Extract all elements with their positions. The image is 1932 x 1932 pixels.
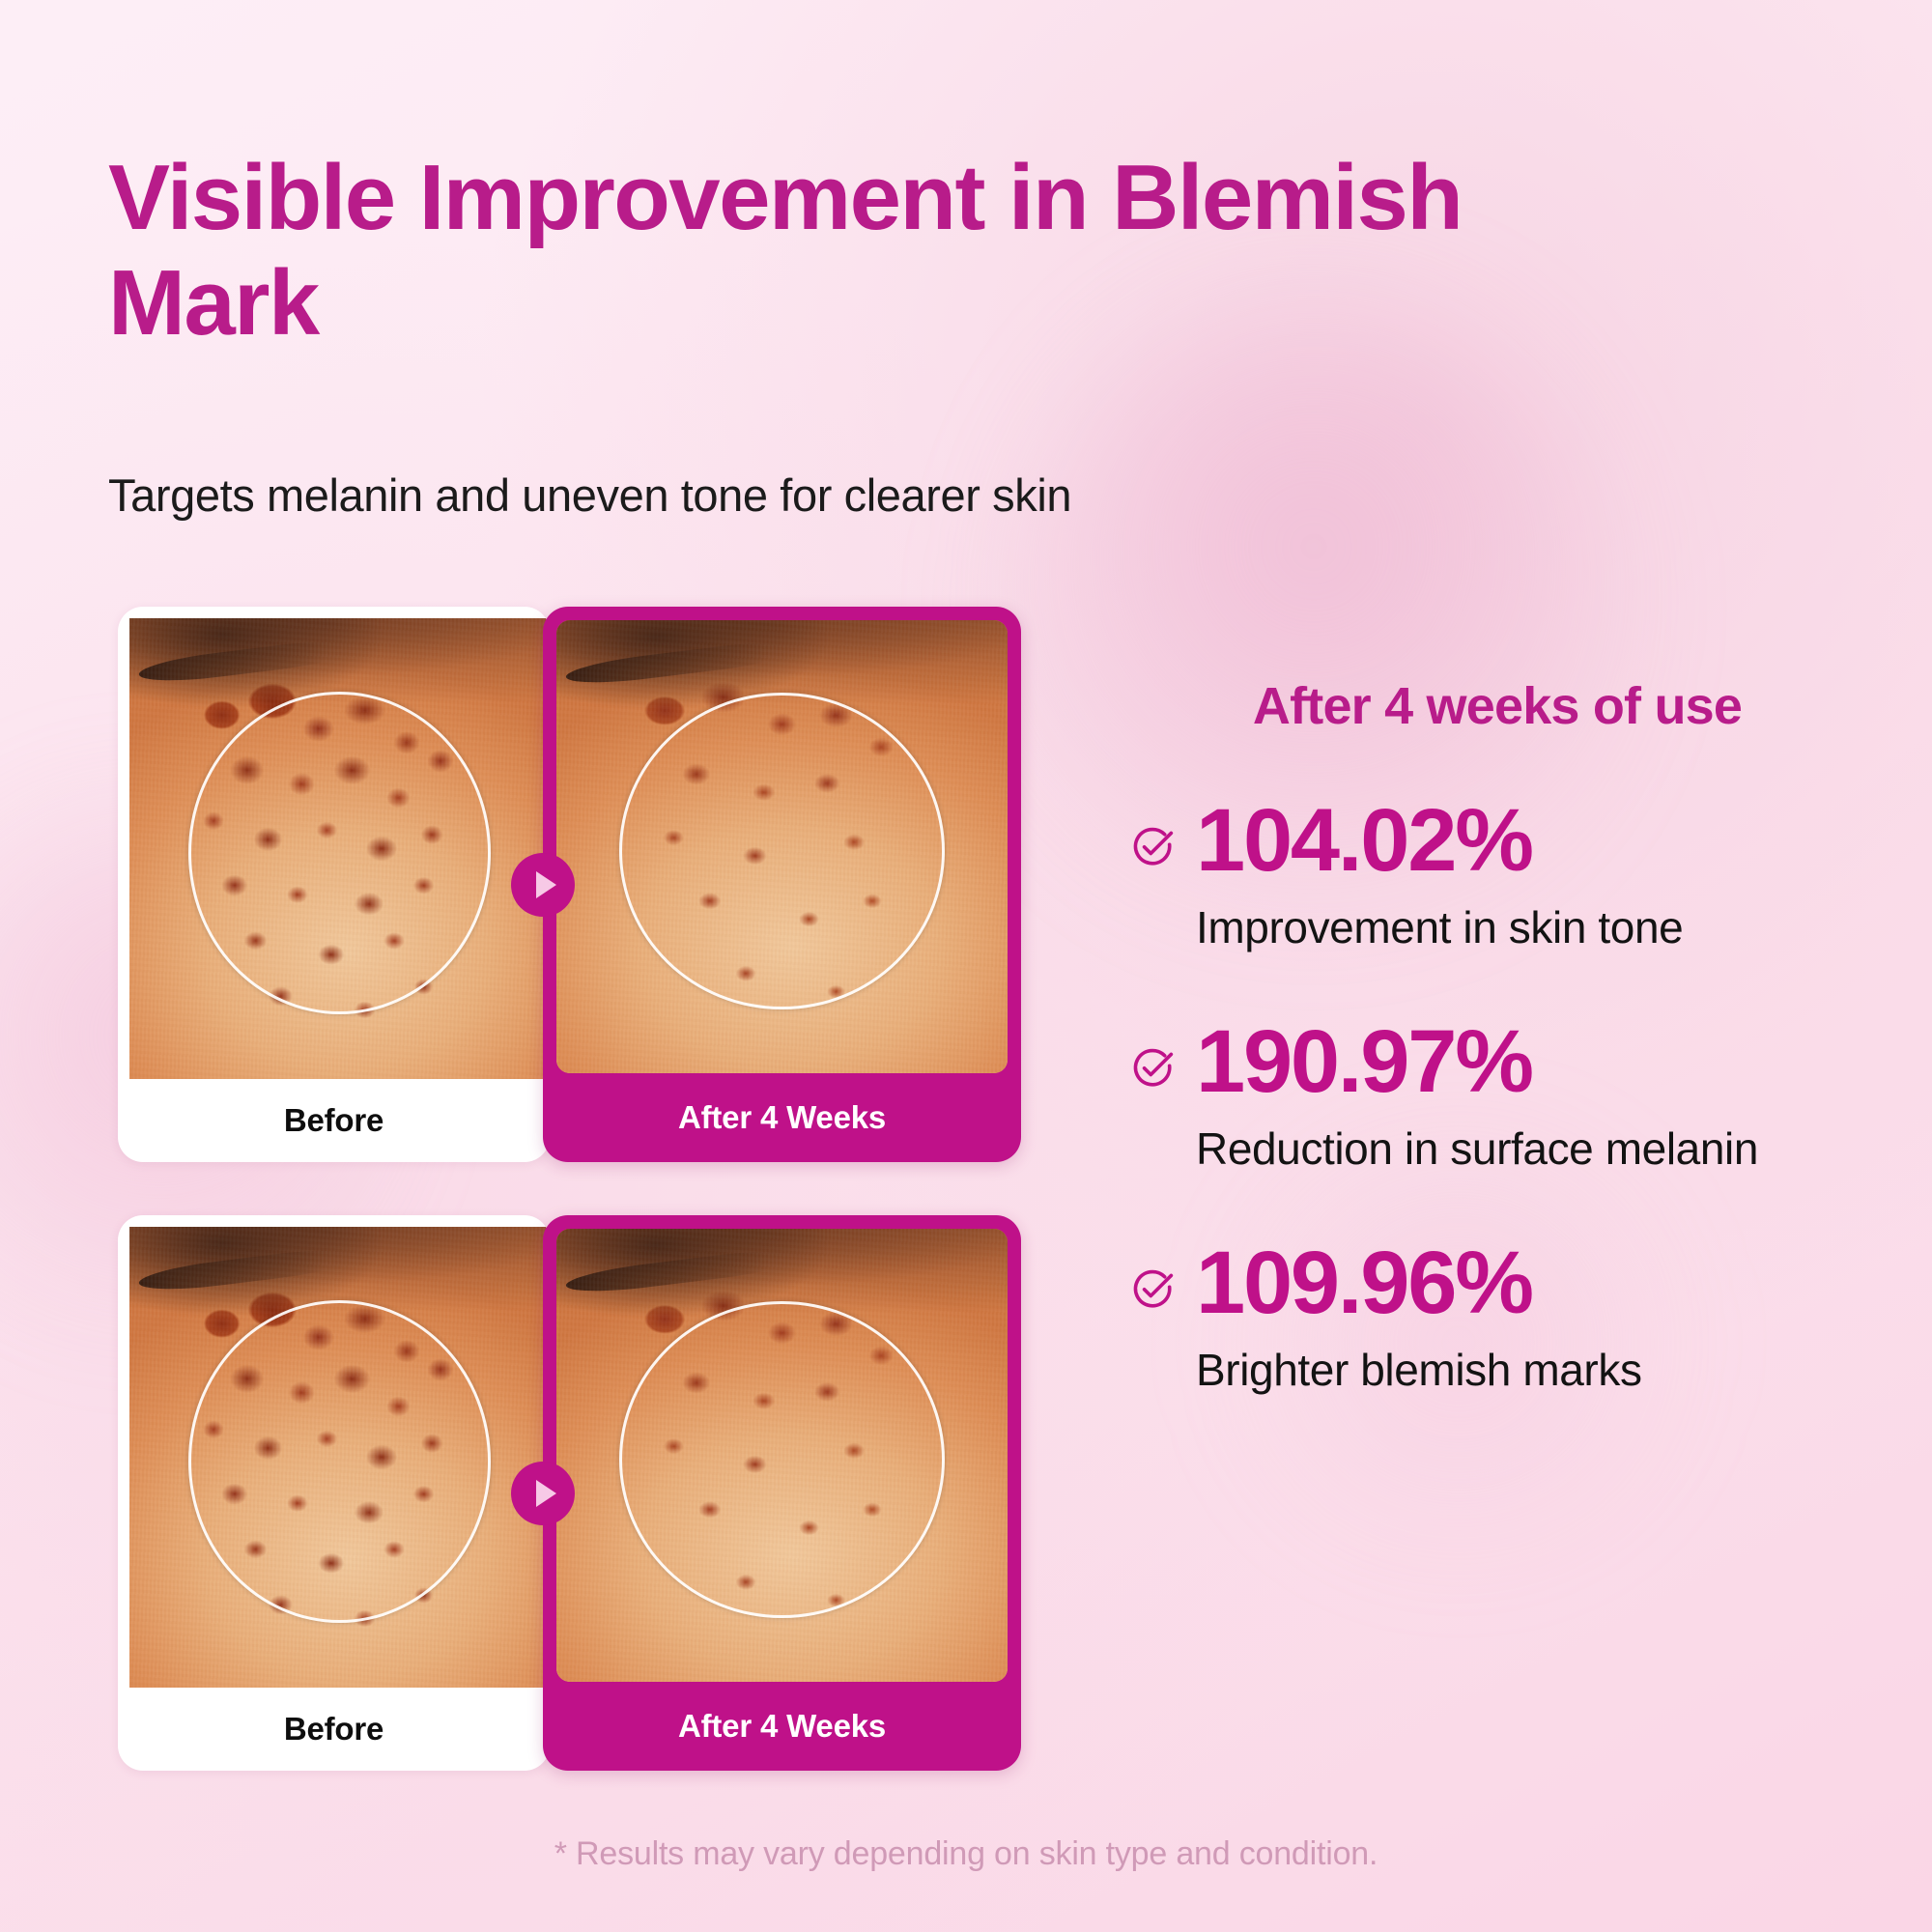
results-stats-panel: After 4 weeks of use 104.02% Improvement… <box>1130 676 1864 1401</box>
after-photo-2 <box>556 1229 1008 1682</box>
before-photo-2 <box>129 1227 550 1688</box>
infographic-page: Visible Improvement in Blemish Mark Targ… <box>0 0 1932 1932</box>
after-card-1[interactable]: After 4 Weeks <box>543 607 1021 1162</box>
stat-value: 190.97% <box>1196 1017 1864 1106</box>
skin-image <box>556 1229 1008 1682</box>
stats-heading: After 4 weeks of use <box>1130 676 1864 736</box>
before-caption-2: Before <box>118 1688 550 1771</box>
skin-image <box>129 618 550 1079</box>
before-photo-1 <box>129 618 550 1079</box>
after-photo-1 <box>556 620 1008 1073</box>
stat-label: Brighter blemish marks <box>1196 1341 1864 1400</box>
skin-image <box>129 1227 550 1688</box>
after-caption-2: After 4 Weeks <box>543 1682 1021 1771</box>
circle-check-icon <box>1130 825 1175 869</box>
page-subtitle: Targets melanin and uneven tone for clea… <box>108 469 1557 523</box>
before-card-1[interactable]: Before <box>118 607 550 1162</box>
focus-ring-overlay <box>188 1300 491 1623</box>
play-triangle-icon <box>536 1480 556 1507</box>
stat-body: 109.96% Brighter blemish marks <box>1196 1238 1864 1400</box>
skin-image <box>556 620 1008 1073</box>
stat-label: Improvement in skin tone <box>1196 898 1864 957</box>
stat-item: 104.02% Improvement in skin tone <box>1130 796 1864 957</box>
comparison-row-1: Before After 4 Weeks <box>118 607 1021 1162</box>
play-triangle-icon <box>536 871 556 898</box>
before-card-2[interactable]: Before <box>118 1215 550 1771</box>
before-caption-1: Before <box>118 1079 550 1162</box>
stat-body: 104.02% Improvement in skin tone <box>1196 796 1864 957</box>
focus-ring-overlay <box>188 692 491 1014</box>
after-caption-1: After 4 Weeks <box>543 1073 1021 1162</box>
stat-value: 109.96% <box>1196 1238 1864 1327</box>
stat-body: 190.97% Reduction in surface melanin <box>1196 1017 1864 1179</box>
circle-check-icon <box>1130 1046 1175 1091</box>
stat-item: 109.96% Brighter blemish marks <box>1130 1238 1864 1400</box>
circle-check-icon <box>1130 1267 1175 1312</box>
page-title: Visible Improvement in Blemish Mark <box>108 145 1557 356</box>
play-arrow-icon[interactable] <box>511 853 575 917</box>
comparison-row-2: Before After 4 Weeks <box>118 1215 1021 1771</box>
disclaimer-text: * Results may vary depending on skin typ… <box>0 1835 1932 1873</box>
stat-value: 104.02% <box>1196 796 1864 885</box>
focus-ring-overlay <box>619 693 944 1009</box>
focus-ring-overlay <box>619 1301 944 1618</box>
after-card-2[interactable]: After 4 Weeks <box>543 1215 1021 1771</box>
stat-item: 190.97% Reduction in surface melanin <box>1130 1017 1864 1179</box>
stat-label: Reduction in surface melanin <box>1196 1120 1864 1179</box>
play-arrow-icon[interactable] <box>511 1462 575 1525</box>
